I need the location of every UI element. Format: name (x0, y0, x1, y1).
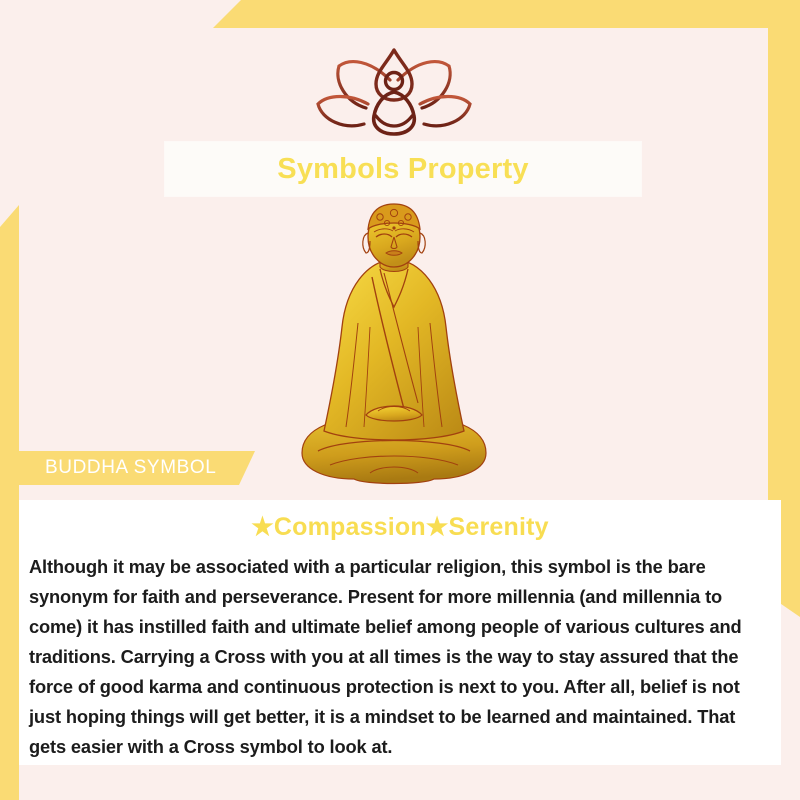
seated-golden-buddha-statue-icon (284, 203, 504, 493)
content-subtitle: ★Compassion★Serenity (19, 512, 781, 542)
star-icon-2: ★ (426, 513, 449, 541)
page-title: Symbols Property (277, 153, 528, 186)
content-panel: ★Compassion★Serenity Although it may be … (19, 500, 781, 765)
content-paragraph: Although it may be associated with a par… (29, 552, 771, 762)
title-banner: Symbols Property (165, 142, 641, 196)
symbol-tab-label: BUDDHA SYMBOL (45, 457, 216, 479)
decorative-top-bar (213, 0, 800, 28)
poster-root: BUDDHA STONES Symbols Property (0, 0, 800, 800)
lotus-meditation-icon (306, 46, 482, 142)
figure-head (385, 73, 402, 90)
figure-arms (376, 116, 412, 126)
decorative-left-bar (0, 205, 19, 800)
subtitle-compassion: Compassion (274, 513, 426, 541)
star-icon-1: ★ (251, 513, 274, 541)
subtitle-serenity: Serenity (449, 513, 549, 541)
symbol-tab: BUDDHA SYMBOL (19, 451, 255, 485)
